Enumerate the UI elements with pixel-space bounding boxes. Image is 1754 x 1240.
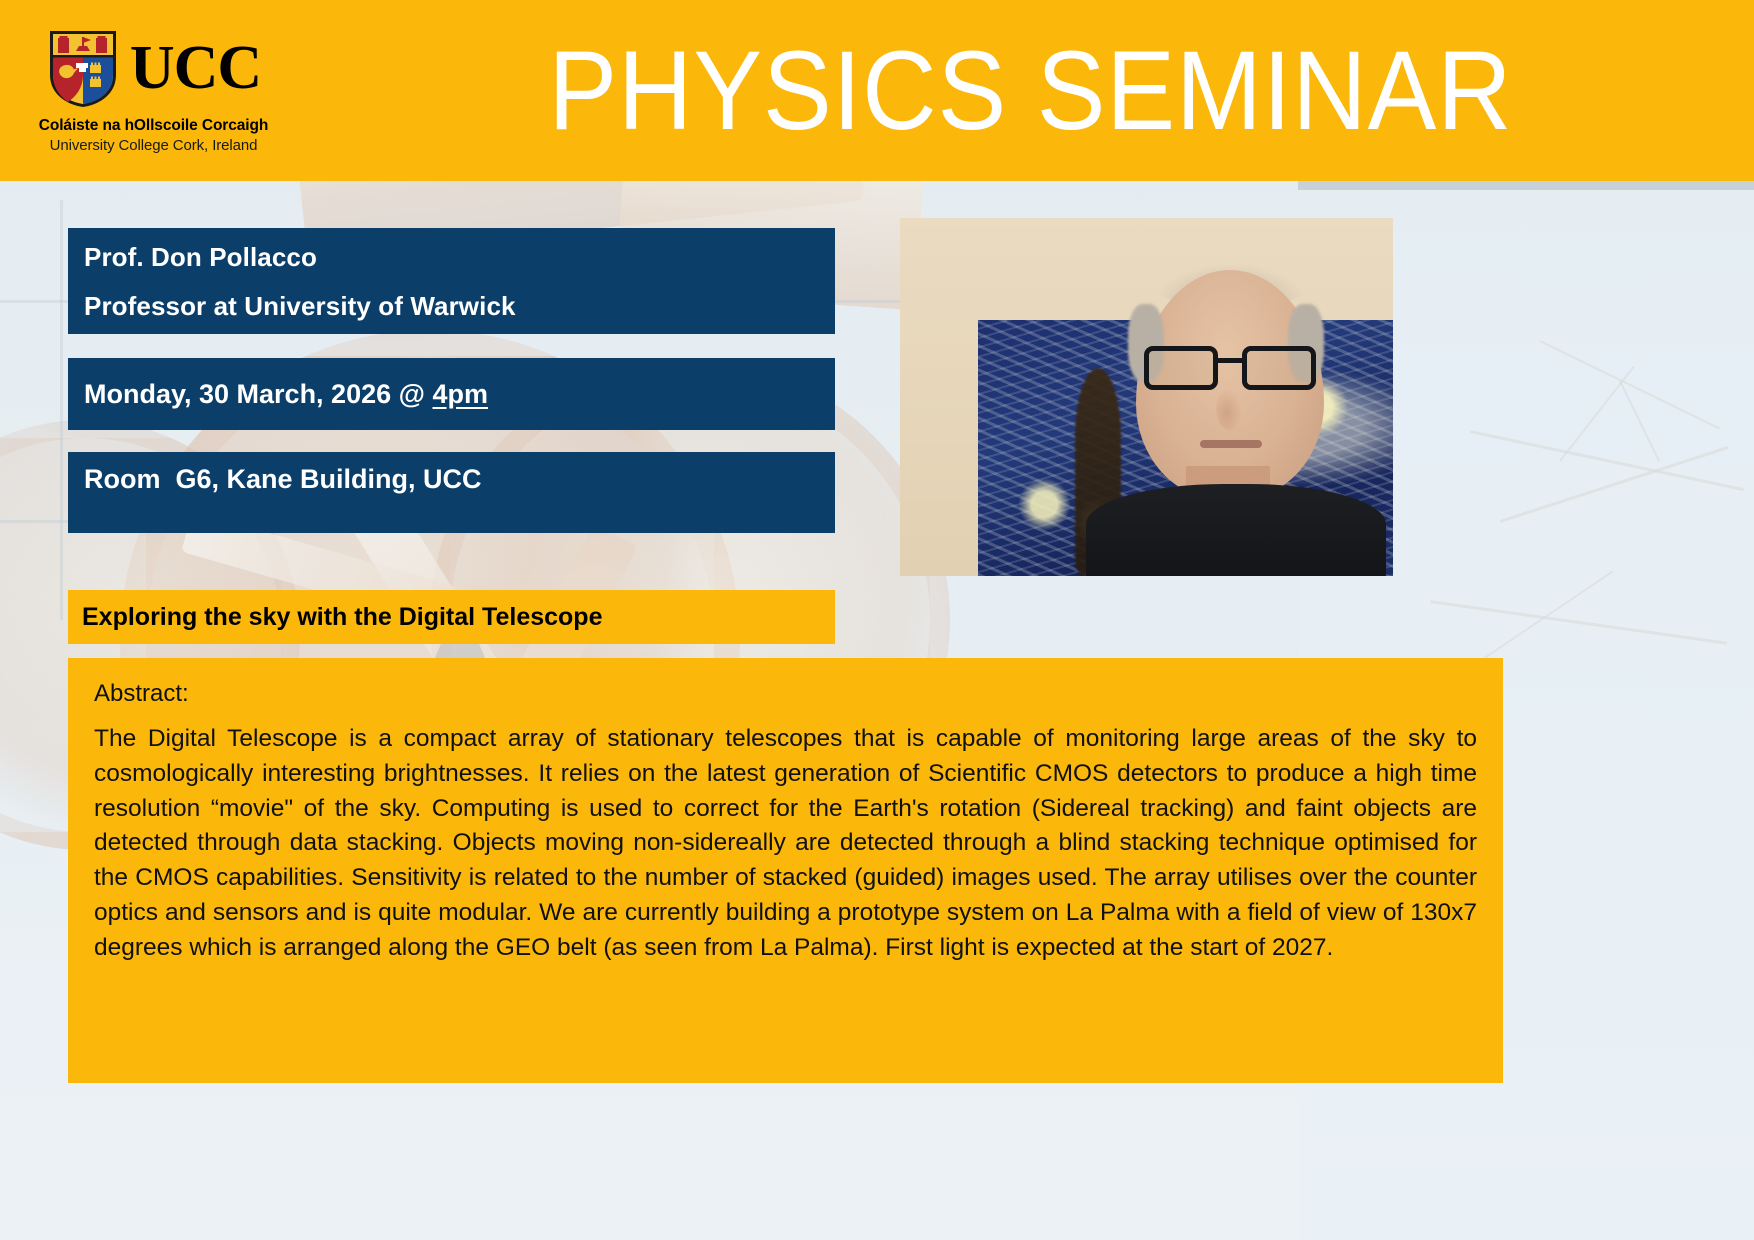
ucc-wordmark: UCC [130,41,261,97]
ucc-irish-name: Coláiste na hOllscoile Corcaigh [39,117,268,135]
abstract-box: Abstract: The Digital Telescope is a com… [68,658,1503,1083]
location-box: Room G6, Kane Building, UCC [68,452,835,533]
avatar-mouth [1200,440,1262,448]
ucc-english-name: University College Cork, Ireland [50,137,258,154]
avatar-glasses [1144,346,1316,390]
talk-title: Exploring the sky with the Digital Teles… [82,603,602,632]
datetime-box: Monday, 30 March, 2026 @ 4pm [68,358,835,430]
speaker-name: Prof. Don Pollacco [84,244,835,270]
abstract-text: The Digital Telescope is a compact array… [94,722,1477,965]
seminar-poster: UCC Coláiste na hOllscoile Corcaigh Univ… [0,0,1754,1240]
talk-title-box: Exploring the sky with the Digital Teles… [68,590,835,644]
speaker-affiliation: Professor at University of Warwick [84,293,835,319]
speaker-photo [900,218,1393,576]
speaker-info-box: Prof. Don Pollacco Professor at Universi… [68,228,835,334]
glasses-bridge [1218,358,1242,363]
glasses-lens-left [1144,346,1218,390]
avatar-nose [1216,388,1242,430]
seminar-time: 4pm [432,379,488,409]
ucc-crest-icon [46,27,120,111]
seminar-date: Monday, 30 March, 2026 @ [84,379,432,409]
avatar-shirt [1086,484,1386,576]
seminar-location: Room G6, Kane Building, UCC [84,464,482,495]
page-title: PHYSICS SEMINAR [365,0,1696,181]
abstract-label: Abstract: [94,680,1477,708]
glasses-lens-right [1242,346,1316,390]
header-banner: UCC Coláiste na hOllscoile Corcaigh Univ… [0,0,1754,181]
ucc-logo: UCC Coláiste na hOllscoile Corcaigh Univ… [0,0,307,181]
